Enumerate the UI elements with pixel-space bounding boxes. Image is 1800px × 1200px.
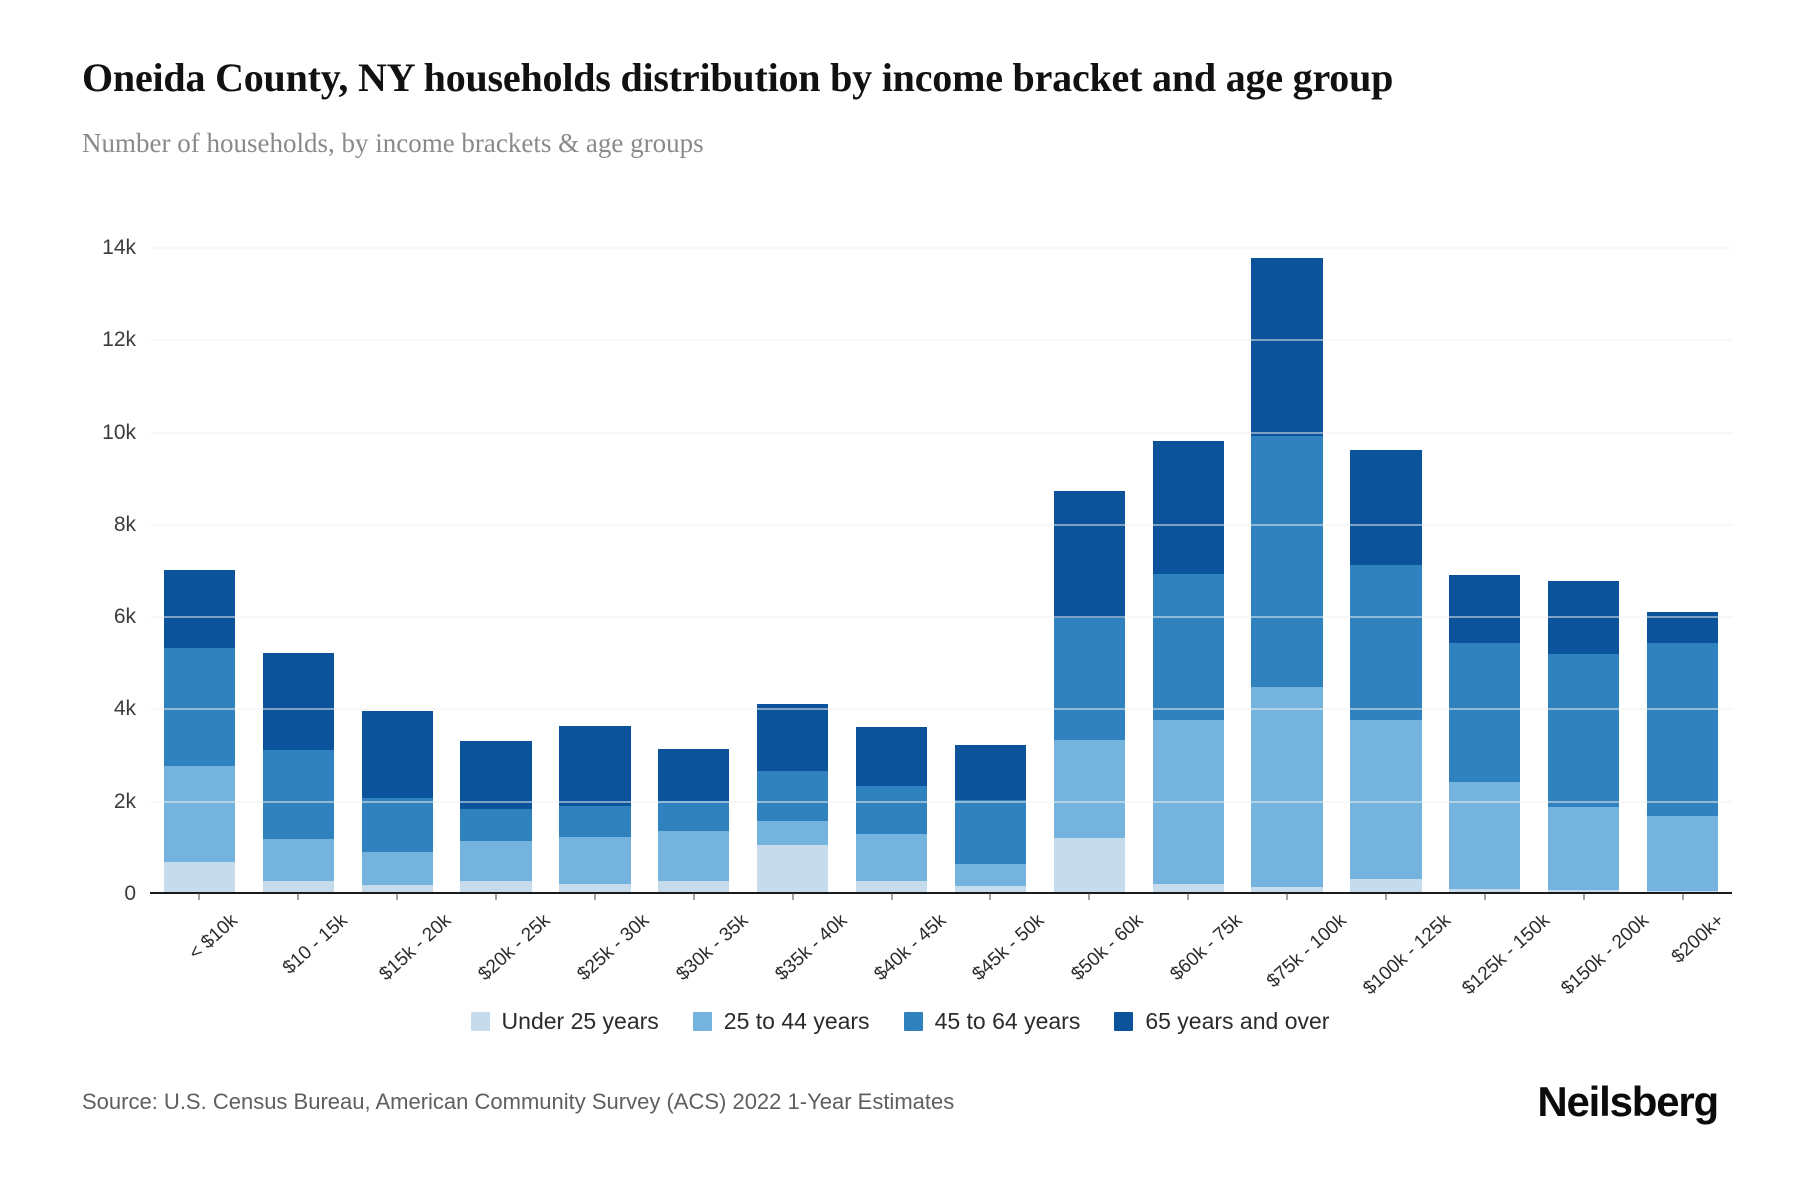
y-axis-tick: 0: [124, 882, 136, 906]
bar-segment[interactable]: [1054, 740, 1125, 838]
bar-segment[interactable]: [856, 881, 927, 892]
bar-column[interactable]: [644, 248, 743, 892]
x-axis-tick-mark: [1089, 893, 1090, 900]
chart-header: Oneida County, NY households distributio…: [82, 52, 1722, 161]
legend-item[interactable]: 25 to 44 years: [693, 1008, 870, 1035]
bar-segment[interactable]: [1350, 879, 1421, 892]
bar-column[interactable]: [1534, 248, 1633, 892]
legend-swatch-icon: [1114, 1012, 1133, 1031]
x-axis-tick-mark: [594, 893, 595, 900]
bar-segment[interactable]: [460, 881, 531, 893]
bar-segment[interactable]: [263, 653, 334, 751]
bar-stack[interactable]: [164, 570, 235, 892]
gridline: [150, 617, 1732, 618]
x-axis-label: $50k - 60k: [1068, 910, 1149, 986]
bar-segment[interactable]: [164, 648, 235, 765]
bar-column[interactable]: [1337, 248, 1436, 892]
bar-segment[interactable]: [1153, 574, 1224, 719]
legend-item[interactable]: Under 25 years: [471, 1008, 659, 1035]
bar-segment[interactable]: [658, 801, 729, 831]
bar-segment[interactable]: [1449, 643, 1520, 781]
x-axis-label: $45k - 50k: [969, 910, 1050, 986]
bar-segment[interactable]: [1449, 575, 1520, 644]
bar-column[interactable]: [842, 248, 941, 892]
bar-segment[interactable]: [757, 821, 828, 845]
legend-label: Under 25 years: [502, 1008, 659, 1035]
y-axis-tick: 6k: [114, 605, 136, 629]
gridline: [150, 432, 1732, 433]
x-axis-label: $200k+: [1667, 910, 1728, 968]
bar-segment[interactable]: [362, 852, 433, 885]
bar-stack[interactable]: [1647, 612, 1718, 892]
bar-column[interactable]: [447, 248, 546, 892]
x-axis-tick-mark: [1583, 893, 1584, 900]
bar-segment[interactable]: [362, 885, 433, 892]
x-axis-tick-mark: [990, 893, 991, 900]
gridline: [150, 709, 1732, 710]
bar-segment[interactable]: [757, 771, 828, 822]
bar-stack[interactable]: [1350, 450, 1421, 892]
bar-segment[interactable]: [658, 831, 729, 881]
legend-label: 25 to 44 years: [724, 1008, 870, 1035]
bar-column[interactable]: [1633, 248, 1732, 892]
chart-plot-area: 02k4k6k8k10k12k14k < $10k$10 - 15k$15k -…: [82, 248, 1732, 910]
brand-logo: Neilsberg: [1537, 1078, 1718, 1126]
bar-segment[interactable]: [1449, 889, 1520, 892]
bar-segment[interactable]: [460, 841, 531, 880]
bar-segment[interactable]: [955, 864, 1026, 887]
bar-column[interactable]: [1435, 248, 1534, 892]
bar-segment[interactable]: [856, 834, 927, 882]
bar-segment[interactable]: [559, 884, 630, 892]
bar-column[interactable]: [546, 248, 645, 892]
x-axis-label: $25k - 30k: [573, 910, 654, 986]
legend-swatch-icon: [471, 1012, 490, 1031]
source-note: Source: U.S. Census Bureau, American Com…: [82, 1089, 954, 1115]
y-axis-tick: 12k: [102, 328, 136, 352]
bar-segment[interactable]: [263, 839, 334, 882]
bar-segment[interactable]: [164, 570, 235, 648]
bar-segment[interactable]: [1251, 258, 1322, 436]
x-axis-label: $35k - 40k: [771, 910, 852, 986]
chart-subtitle: Number of households, by income brackets…: [82, 126, 1722, 161]
bar-stack[interactable]: [1449, 575, 1520, 892]
chart-legend: Under 25 years25 to 44 years45 to 64 yea…: [0, 1008, 1800, 1035]
bar-segment[interactable]: [1054, 491, 1125, 618]
bar-segment[interactable]: [1251, 436, 1322, 687]
bar-stack[interactable]: [856, 727, 927, 892]
bar-column[interactable]: [1238, 248, 1337, 892]
bar-segment[interactable]: [1350, 450, 1421, 565]
gridline: [150, 248, 1732, 249]
x-axis-label: < $10k: [185, 910, 243, 965]
bar-segment[interactable]: [1647, 643, 1718, 816]
bar-segment[interactable]: [1548, 890, 1619, 892]
x-axis-tick-mark: [1188, 893, 1189, 900]
y-axis-tick: 2k: [114, 790, 136, 814]
bar-column[interactable]: [743, 248, 842, 892]
bar-segment[interactable]: [955, 886, 1026, 892]
bar-segment[interactable]: [658, 749, 729, 801]
chart-footer: Source: U.S. Census Bureau, American Com…: [82, 1078, 1718, 1126]
bar-stack[interactable]: [955, 745, 1026, 892]
bar-segment[interactable]: [263, 881, 334, 892]
bar-segment[interactable]: [1054, 618, 1125, 740]
y-axis-tick: 10k: [102, 421, 136, 445]
legend-item[interactable]: 45 to 64 years: [904, 1008, 1081, 1035]
x-axis-label: $30k - 35k: [672, 910, 753, 986]
bar-segment[interactable]: [362, 798, 433, 852]
chart-page: Oneida County, NY households distributio…: [0, 0, 1800, 1200]
bar-segment[interactable]: [559, 837, 630, 884]
bar-segment[interactable]: [757, 845, 828, 892]
bar-segment[interactable]: [164, 766, 235, 863]
bar-segment[interactable]: [955, 800, 1026, 864]
bar-segment[interactable]: [757, 704, 828, 770]
legend-item[interactable]: 65 years and over: [1114, 1008, 1329, 1035]
y-axis: 02k4k6k8k10k12k14k: [82, 248, 150, 894]
bar-stack[interactable]: [559, 726, 630, 892]
bar-segment[interactable]: [460, 741, 531, 809]
x-axis-line: [150, 892, 1732, 894]
gridline: [150, 340, 1732, 341]
x-axis-tick-mark: [1385, 893, 1386, 900]
bar-stack[interactable]: [1548, 581, 1619, 892]
bar-segment[interactable]: [164, 862, 235, 892]
bar-segment[interactable]: [856, 727, 927, 786]
bar-segment[interactable]: [460, 809, 531, 841]
bar-segment[interactable]: [1548, 581, 1619, 654]
bar-stack[interactable]: [1251, 258, 1322, 892]
bar-segment[interactable]: [1647, 816, 1718, 891]
bar-column[interactable]: [249, 248, 348, 892]
bar-segment[interactable]: [559, 726, 630, 806]
x-axis-tick-mark: [496, 893, 497, 900]
legend-swatch-icon: [904, 1012, 923, 1031]
x-axis-tick-mark: [1484, 893, 1485, 900]
gridline: [150, 524, 1732, 525]
bar-stack[interactable]: [460, 741, 531, 892]
bar-stack[interactable]: [263, 653, 334, 892]
x-axis-tick-mark: [1682, 893, 1683, 900]
x-axis-label: $20k - 25k: [474, 910, 555, 986]
x-axis-tick-mark: [1287, 893, 1288, 900]
bar-stack[interactable]: [1054, 491, 1125, 892]
bar-segment[interactable]: [1153, 441, 1224, 574]
gridline: [150, 801, 1732, 802]
bar-segment[interactable]: [1350, 720, 1421, 878]
x-axis-tick-mark: [397, 893, 398, 900]
bar-segment[interactable]: [1548, 807, 1619, 890]
bar-column[interactable]: [941, 248, 1040, 892]
x-axis-tick-mark: [693, 893, 694, 900]
bar-column[interactable]: [348, 248, 447, 892]
x-axis-label: $15k - 20k: [376, 910, 457, 986]
x-axis-label: $10 - 15k: [279, 910, 353, 979]
bar-segment[interactable]: [1548, 654, 1619, 807]
y-axis-tick: 4k: [114, 697, 136, 721]
legend-label: 65 years and over: [1145, 1008, 1329, 1035]
bar-stack[interactable]: [757, 704, 828, 892]
bar-segment[interactable]: [658, 881, 729, 892]
x-axis-tick-mark: [298, 893, 299, 900]
bar-segment[interactable]: [955, 745, 1026, 799]
bar-stack[interactable]: [658, 749, 729, 893]
bar-segment[interactable]: [1647, 891, 1718, 892]
y-axis-tick: 14k: [102, 236, 136, 260]
bar-segment[interactable]: [1054, 838, 1125, 892]
bar-segment[interactable]: [263, 750, 334, 838]
y-axis-tick: 8k: [114, 513, 136, 537]
bar-segment[interactable]: [1251, 887, 1322, 892]
x-axis-tick-mark: [891, 893, 892, 900]
bar-series-container: [150, 248, 1732, 892]
legend-swatch-icon: [693, 1012, 712, 1031]
bar-segment[interactable]: [1350, 565, 1421, 720]
x-axis-label: $40k - 45k: [870, 910, 951, 986]
bar-segment[interactable]: [1153, 884, 1224, 892]
page-title: Oneida County, NY households distributio…: [82, 52, 1642, 105]
bar-segment[interactable]: [1251, 687, 1322, 887]
bar-column[interactable]: [150, 248, 249, 892]
x-axis-tick-mark: [199, 893, 200, 900]
bar-column[interactable]: [1139, 248, 1238, 892]
x-axis-tick-mark: [792, 893, 793, 900]
legend-label: 45 to 64 years: [935, 1008, 1081, 1035]
bar-segment[interactable]: [856, 786, 927, 833]
bar-column[interactable]: [1040, 248, 1139, 892]
bar-segment[interactable]: [1449, 782, 1520, 890]
bar-segment[interactable]: [362, 711, 433, 798]
bar-stack[interactable]: [1153, 441, 1224, 892]
plot-grid: [150, 248, 1732, 894]
x-axis-label: $60k - 75k: [1167, 910, 1248, 986]
bar-segment[interactable]: [559, 806, 630, 838]
